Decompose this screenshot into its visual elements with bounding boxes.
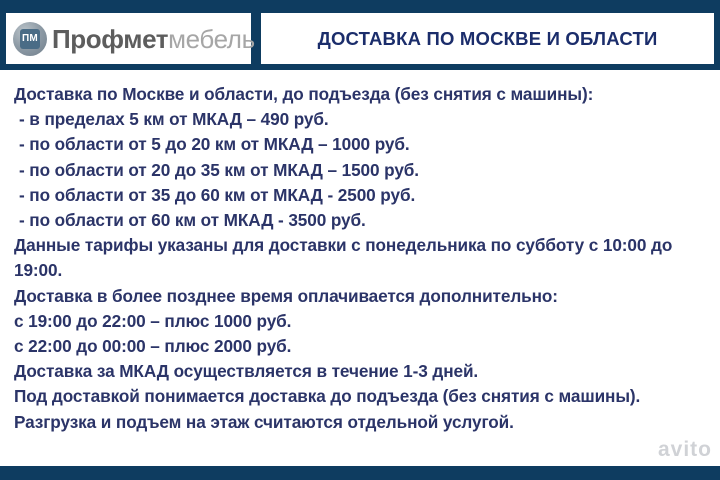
terms-line: - по области от 60 км от МКАД - 3500 руб… (14, 208, 712, 233)
logo-monogram-text: ПМ (22, 34, 38, 44)
terms-line: Доставка в более позднее время оплачивае… (14, 284, 712, 309)
page-title: ДОСТАВКА ПО МОСКВЕ И ОБЛАСТИ (318, 28, 658, 50)
terms-line: - по области от 5 до 20 км от МКАД – 100… (14, 132, 712, 157)
page-title-box: ДОСТАВКА ПО МОСКВЕ И ОБЛАСТИ (261, 13, 714, 64)
terms-line: - в пределах 5 км от МКАД – 490 руб. (14, 107, 712, 132)
brand-name-light: мебель (168, 24, 255, 54)
terms-line: Данные тарифы указаны для доставки с пон… (14, 233, 712, 283)
delivery-info-poster: ПМ Профметмебель ДОСТАВКА ПО МОСКВЕ И ОБ… (0, 0, 720, 480)
brand-name-bold: Профмет (52, 24, 168, 54)
header-separator (251, 13, 261, 64)
delivery-terms-panel: Доставка по Москве и области, до подъезд… (0, 70, 720, 470)
footer-bar (0, 466, 720, 480)
profmet-monogram-icon: ПМ (13, 22, 47, 56)
terms-line: с 22:00 до 00:00 – плюс 2000 руб. (14, 334, 712, 359)
terms-line: Под доставкой понимается доставка до под… (14, 384, 712, 434)
logo-inner-square: ПМ (20, 29, 40, 49)
terms-line: с 19:00 до 22:00 – плюс 1000 руб. (14, 309, 712, 334)
terms-line: Доставка по Москве и области, до подъезд… (14, 82, 712, 107)
header-bar: ПМ Профметмебель ДОСТАВКА ПО МОСКВЕ И ОБ… (0, 8, 720, 70)
brand-logo-box[interactable]: ПМ Профметмебель (6, 13, 251, 64)
terms-line: - по области от 35 до 60 км от МКАД - 25… (14, 183, 712, 208)
brand-wordmark: Профметмебель (52, 26, 255, 52)
terms-line: - по области от 20 до 35 км от МКАД – 15… (14, 158, 712, 183)
terms-line: Доставка за МКАД осуществляется в течени… (14, 359, 712, 384)
